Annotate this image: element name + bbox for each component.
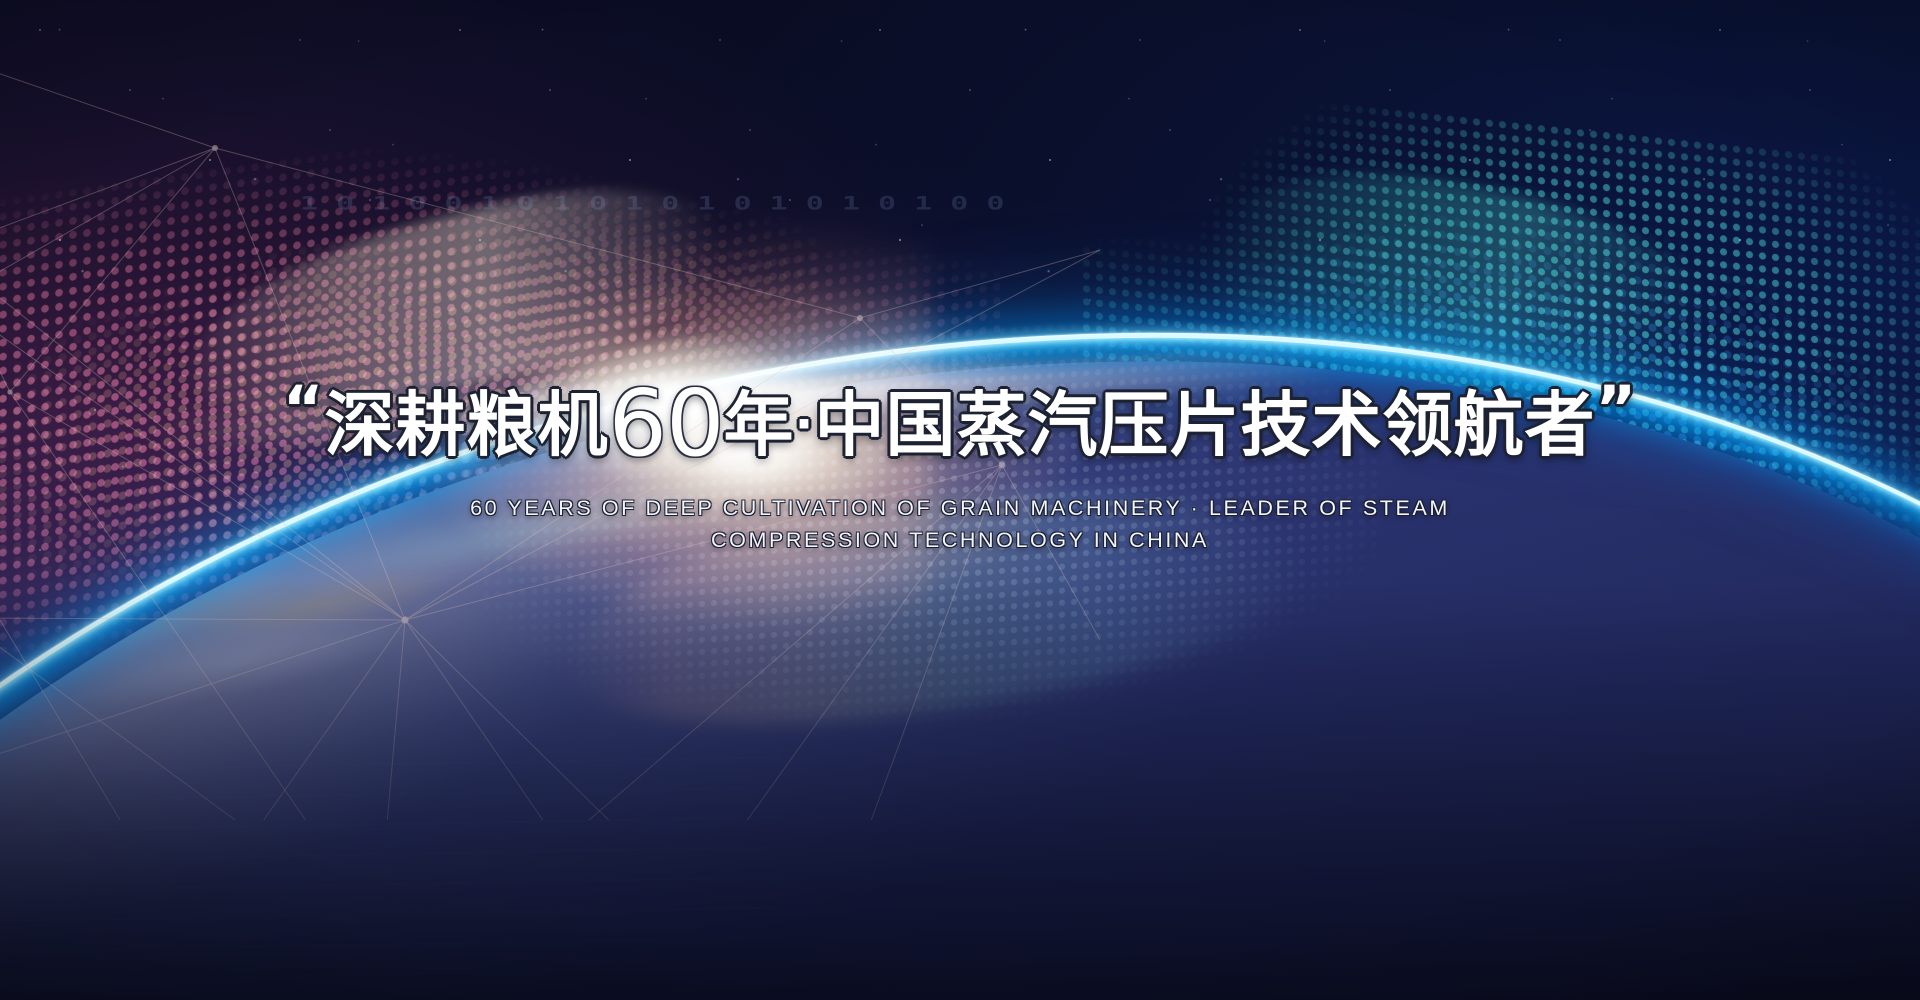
headline-separator: · xyxy=(795,395,815,453)
scanline-bands xyxy=(0,740,780,1000)
headline-lead: 深耕粮机 xyxy=(324,384,608,466)
headline-tail: 年 xyxy=(724,384,795,466)
subtitle-line-1: 60 YEARS OF DEEP CULTIVATION OF GRAIN MA… xyxy=(0,492,1920,524)
headline-close-quote: ” xyxy=(1596,372,1638,445)
hero-text-block: “深耕粮机60年·中国蒸汽压片技术领航者” 60 YEARS OF DEEP C… xyxy=(0,378,1920,556)
headline-open-quote: “ xyxy=(283,372,325,445)
subtitle: 60 YEARS OF DEEP CULTIVATION OF GRAIN MA… xyxy=(0,492,1920,556)
headline: “深耕粮机60年·中国蒸汽压片技术领航者” xyxy=(0,378,1920,470)
headline-rest: 中国蒸汽压片技术领航者 xyxy=(815,384,1596,466)
hero-banner: 1 0 1 0 0 1 0 1 0 1 0 1 0 1 0 1 0 1 0 0 xyxy=(0,0,1920,1000)
headline-number: 60 xyxy=(608,370,723,477)
subtitle-line-2: COMPRESSION TECHNOLOGY IN CHINA xyxy=(0,524,1920,556)
